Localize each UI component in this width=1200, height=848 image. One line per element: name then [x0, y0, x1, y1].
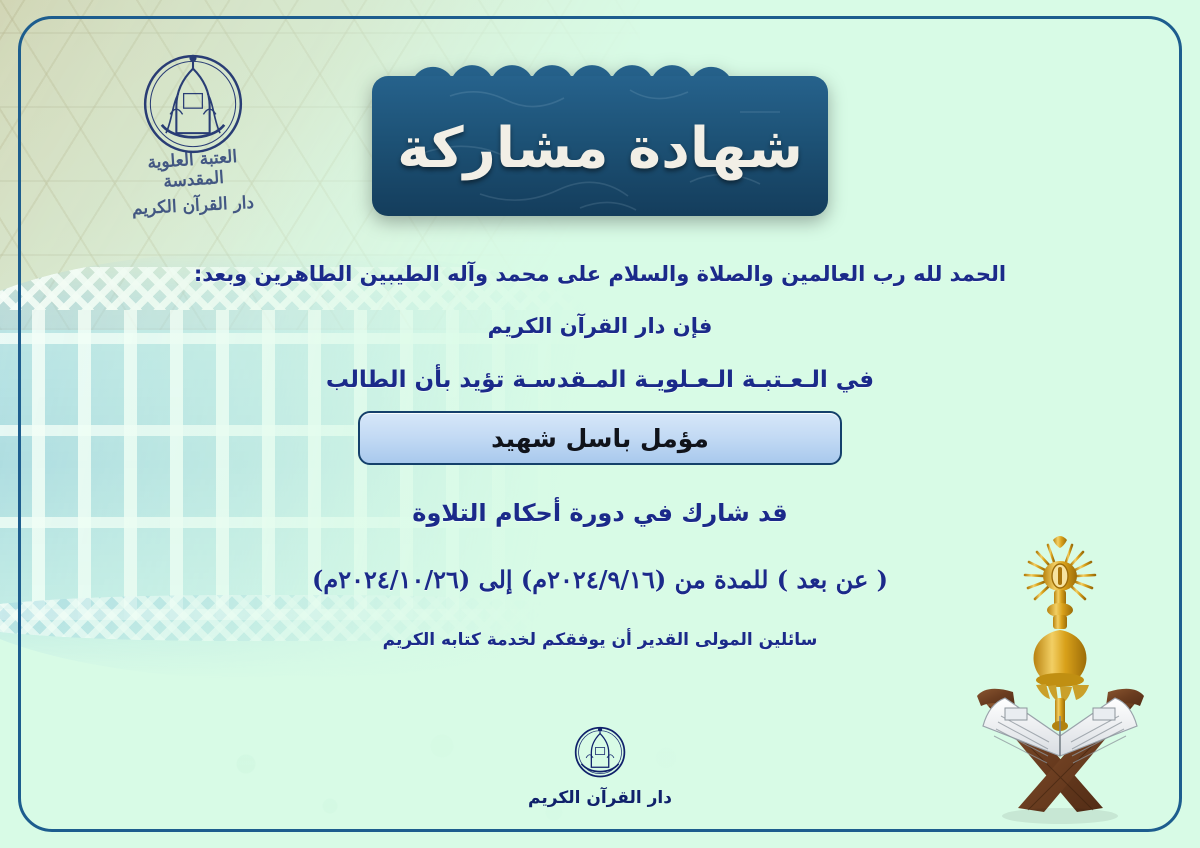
organization-emblem: العتبة العلوية المقدسة دار القرآن الكريم	[118, 52, 268, 232]
footer-caption: دار القرآن الكريم	[528, 788, 672, 808]
emblem-calligraphy-line-1: العتبة العلوية المقدسة	[117, 145, 269, 195]
body-line-course: قد شارك في دورة أحكام التلاوة	[0, 499, 1200, 527]
certificate-content: العتبة العلوية المقدسة دار القرآن الكريم	[0, 0, 1200, 848]
emblem-calligraphy-line-2: دار القرآن الكريم	[118, 192, 269, 220]
page-title: شهادة مشاركة	[330, 62, 870, 240]
body-line-institution: فإن دار القرآن الكريم	[0, 314, 1200, 338]
student-name-value: مؤمل باسل شهيد	[491, 424, 709, 453]
certificate-title-plaque: شهادة مشاركة	[330, 62, 870, 240]
body-line-praise: الحمد لله رب العالمين والصلاة والسلام عل…	[0, 262, 1200, 286]
footer-logo: دار القرآن الكريم	[528, 722, 672, 808]
shrine-dome-seal-icon	[141, 52, 245, 156]
quran-on-rehal-with-gold-finial-icon	[953, 530, 1168, 830]
student-name-row: مؤمل باسل شهيد	[0, 411, 1200, 465]
student-name-field[interactable]: مؤمل باسل شهيد	[358, 411, 842, 465]
shrine-dome-seal-icon	[571, 722, 629, 780]
certificate-page: العتبة العلوية المقدسة دار القرآن الكريم	[0, 0, 1200, 848]
body-line-shrine-confirms: في الـعـتبـة الـعـلويـة المـقدسـة تؤيد ب…	[0, 367, 1200, 393]
